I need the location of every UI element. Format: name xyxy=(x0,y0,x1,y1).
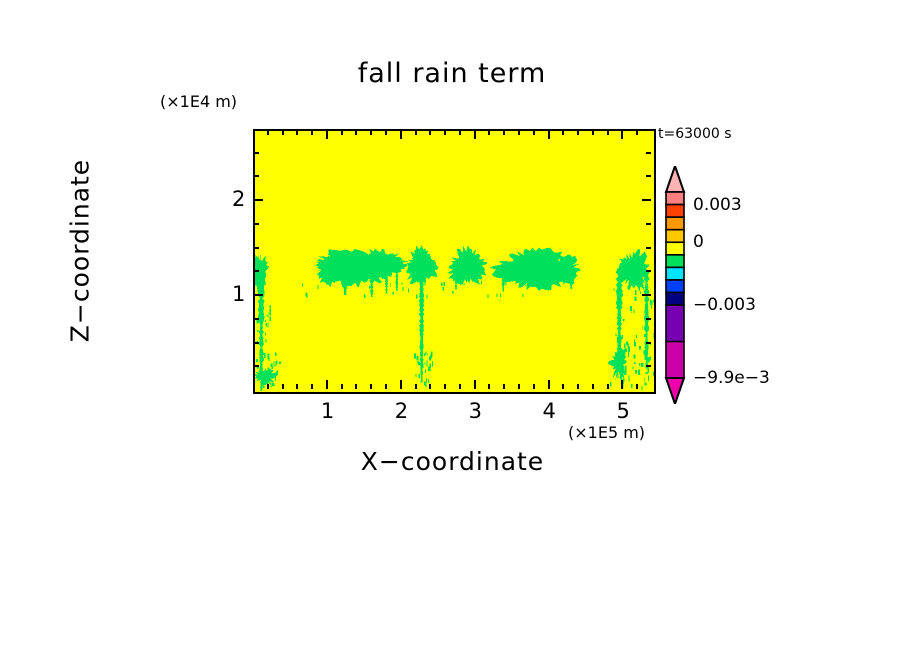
contour-region xyxy=(641,363,643,367)
contour-region xyxy=(269,313,271,316)
x-tick-mark xyxy=(429,130,431,135)
contour-region xyxy=(265,339,266,342)
contour-region xyxy=(306,293,307,297)
colorbar-band xyxy=(666,230,684,243)
x-tick-mark xyxy=(370,130,372,135)
contour-region xyxy=(261,370,262,373)
colorbar-tick-label: 0 xyxy=(693,232,704,252)
contour-region xyxy=(351,281,352,284)
y-tick-mark xyxy=(642,294,651,296)
x-tick-mark xyxy=(621,130,623,139)
contour-region xyxy=(408,289,409,293)
contour-region xyxy=(631,384,633,388)
contour-region xyxy=(269,358,270,361)
contour-region xyxy=(268,313,269,318)
contour-region xyxy=(261,386,262,392)
contour-region xyxy=(646,322,648,324)
contour-region xyxy=(268,368,269,373)
contour-region xyxy=(401,282,402,284)
x-tick-mark xyxy=(370,384,372,389)
y-tick-label: 2 xyxy=(232,187,245,211)
contour-region xyxy=(427,353,428,355)
contour-region xyxy=(640,291,641,294)
contour-region xyxy=(623,368,624,371)
contour-region xyxy=(425,370,426,373)
contour-region xyxy=(635,290,637,295)
contour-region xyxy=(390,283,391,287)
contour-region xyxy=(621,294,623,297)
colorbar-band xyxy=(666,255,684,268)
x-tick-mark xyxy=(444,384,446,389)
x-tick-mark xyxy=(577,384,579,389)
x-tick-label: 5 xyxy=(616,399,629,423)
contour-region xyxy=(644,377,645,382)
y-tick-mark xyxy=(254,152,259,154)
y-tick-mark xyxy=(254,199,263,201)
contour-region xyxy=(430,363,431,368)
contour-region xyxy=(523,294,524,297)
x-tick-mark xyxy=(474,380,476,389)
contour-region xyxy=(645,383,647,386)
contour-region xyxy=(500,293,501,297)
contour-region xyxy=(428,379,429,383)
y-tick-mark xyxy=(254,318,259,320)
x-tick-mark xyxy=(429,384,431,389)
contour-region xyxy=(260,340,261,344)
x-tick-mark xyxy=(326,380,328,389)
colorbar-band xyxy=(666,217,684,230)
plot-data-clip xyxy=(255,131,654,392)
contour-region xyxy=(426,378,427,381)
contour-region xyxy=(627,286,628,290)
y-tick-mark xyxy=(646,175,651,177)
x-tick-mark xyxy=(562,130,564,135)
contour-region xyxy=(264,372,266,376)
contour-region xyxy=(634,310,635,313)
x-tick-mark xyxy=(459,130,461,135)
x-axis-title: X−coordinate xyxy=(253,447,652,476)
x-tick-mark xyxy=(607,130,609,135)
x-tick-mark xyxy=(503,384,505,389)
contour-region xyxy=(275,353,277,357)
colorbar-top-cap xyxy=(666,166,684,192)
contour-region xyxy=(267,323,268,327)
y-tick-mark xyxy=(646,223,651,225)
contour-region xyxy=(416,374,417,377)
contour-region xyxy=(271,363,273,367)
contour-region xyxy=(648,314,649,317)
contour-region xyxy=(638,369,640,374)
x-tick-mark xyxy=(355,384,357,389)
x-axis-unit-label: (×1E5 m) xyxy=(568,423,645,442)
contour-region xyxy=(481,280,482,284)
contour-region xyxy=(634,342,636,346)
contour-region xyxy=(265,320,266,322)
contour-region xyxy=(270,382,271,387)
contour-region xyxy=(422,282,423,284)
contour-region xyxy=(426,295,427,299)
contour-region xyxy=(630,306,632,311)
contour-region xyxy=(260,352,261,354)
contour-region xyxy=(621,348,622,353)
contour-region xyxy=(634,362,635,364)
contour-region xyxy=(279,361,281,364)
contour-region xyxy=(276,360,277,364)
contour-region xyxy=(422,364,424,368)
contour-region xyxy=(616,333,617,336)
x-tick-mark xyxy=(282,384,284,389)
contour-region xyxy=(267,315,268,317)
x-tick-mark xyxy=(282,130,284,135)
contour-region xyxy=(369,285,370,288)
x-tick-label: 4 xyxy=(543,399,556,423)
contour-region xyxy=(307,294,308,296)
colorbar-tick-label: −9.9e−3 xyxy=(693,368,770,388)
y-tick-mark xyxy=(254,365,259,367)
contour-region xyxy=(419,374,420,378)
contour-region xyxy=(463,283,464,286)
contour-region xyxy=(261,353,262,355)
contour-region xyxy=(417,356,419,361)
contour-region xyxy=(256,359,258,362)
contour-region xyxy=(414,354,416,359)
contour-region xyxy=(257,377,258,380)
contour-region xyxy=(260,299,261,302)
x-tick-mark xyxy=(548,130,550,139)
colorbar-band xyxy=(666,305,684,341)
contour-region xyxy=(642,326,643,330)
x-tick-mark xyxy=(444,130,446,135)
contour-region xyxy=(265,323,266,325)
contour-region xyxy=(263,353,265,356)
contour-region xyxy=(618,290,619,294)
contour-region xyxy=(634,339,635,342)
y-tick-mark xyxy=(254,270,259,272)
x-tick-mark xyxy=(548,380,550,389)
contour-region xyxy=(623,319,625,321)
plot-area xyxy=(253,129,656,394)
colorbar-tick-label: 0.003 xyxy=(693,195,742,215)
contour-region xyxy=(639,363,640,366)
contour-region xyxy=(432,361,433,366)
colorbar-tick-label: −0.003 xyxy=(693,295,756,315)
contour-region xyxy=(650,300,651,305)
contour-region xyxy=(648,375,649,381)
colorbar-bottom-cap xyxy=(666,378,684,404)
x-tick-mark xyxy=(533,130,535,135)
contour-region xyxy=(428,367,429,371)
y-tick-mark xyxy=(646,318,651,320)
contour-region xyxy=(302,283,303,286)
contour-region xyxy=(626,342,628,345)
contour-region xyxy=(402,287,403,291)
x-tick-mark xyxy=(518,130,520,135)
contour-region xyxy=(654,371,655,375)
colorbar-band xyxy=(666,280,684,293)
contour-region xyxy=(426,351,427,354)
x-tick-mark xyxy=(341,384,343,389)
colorbar-swatches xyxy=(663,166,687,404)
contour-region xyxy=(270,374,271,380)
x-tick-mark xyxy=(503,130,505,135)
contour-region xyxy=(647,352,648,355)
contour-region xyxy=(260,296,261,299)
contour-region xyxy=(653,299,654,302)
contour-region xyxy=(265,333,266,335)
colorbar-band xyxy=(666,293,684,306)
contour-region xyxy=(505,282,506,286)
contour-region xyxy=(275,378,276,381)
y-tick-mark xyxy=(646,247,651,249)
contour-region xyxy=(635,370,637,374)
contour-region xyxy=(614,289,615,291)
x-tick-mark xyxy=(621,380,623,389)
contour-region xyxy=(257,330,259,332)
contour-region xyxy=(648,368,650,373)
contour-region xyxy=(317,285,318,289)
timestamp-annotation: t=63000 s xyxy=(658,126,732,142)
colorbar xyxy=(663,166,687,404)
contour-region xyxy=(496,294,497,297)
contour-region xyxy=(621,367,623,372)
colorbar-band xyxy=(666,242,684,255)
contour-region xyxy=(424,381,426,385)
y-axis-title: Z−coordinate xyxy=(66,111,95,391)
x-tick-mark xyxy=(296,384,298,389)
contour-region xyxy=(632,367,633,369)
contour-region xyxy=(263,386,265,388)
contour-region xyxy=(629,376,630,382)
colorbar-band xyxy=(666,205,684,218)
contour-field xyxy=(255,131,654,392)
contour-region xyxy=(270,306,271,309)
x-tick-mark xyxy=(341,130,343,135)
contour-region xyxy=(639,346,641,349)
x-tick-mark xyxy=(474,130,476,139)
contour-region xyxy=(633,355,635,359)
contour-region xyxy=(649,357,650,361)
x-tick-mark xyxy=(488,384,490,389)
contour-region xyxy=(636,335,637,338)
contour-region xyxy=(610,382,612,387)
x-tick-mark xyxy=(400,380,402,389)
x-tick-mark xyxy=(385,384,387,389)
contour-region xyxy=(267,375,269,381)
contour-region xyxy=(424,363,425,365)
contour-region xyxy=(622,335,623,339)
contour-region xyxy=(274,362,275,367)
x-tick-mark xyxy=(355,130,357,135)
contour-region xyxy=(426,361,427,367)
x-tick-mark xyxy=(518,384,520,389)
y-tick-mark xyxy=(254,247,259,249)
y-tick-mark xyxy=(254,294,263,296)
x-tick-mark xyxy=(400,130,402,139)
x-tick-mark xyxy=(415,130,417,135)
contour-region xyxy=(441,283,442,286)
contour-region xyxy=(364,294,366,298)
colorbar-band xyxy=(666,192,684,205)
contour-region xyxy=(618,360,620,362)
contour-region xyxy=(624,343,626,348)
y-tick-label: 1 xyxy=(232,282,245,306)
x-tick-label: 2 xyxy=(395,399,408,423)
x-tick-mark xyxy=(592,130,594,135)
x-tick-mark xyxy=(636,130,638,135)
x-tick-mark xyxy=(296,130,298,135)
y-tick-mark xyxy=(646,270,651,272)
contour-region xyxy=(272,383,274,387)
contour-region xyxy=(262,314,263,318)
contour-region xyxy=(641,386,642,391)
contour-region xyxy=(275,372,277,375)
contour-region xyxy=(259,331,260,333)
x-tick-label: 1 xyxy=(321,399,334,423)
y-tick-mark xyxy=(254,175,259,177)
contour-region xyxy=(624,371,626,376)
contour-region xyxy=(424,354,425,356)
contour-region xyxy=(645,354,647,360)
contour-region xyxy=(421,367,422,370)
y-tick-mark xyxy=(254,223,259,225)
contour-region xyxy=(262,371,263,375)
x-tick-mark xyxy=(385,130,387,135)
x-tick-mark xyxy=(326,130,328,139)
x-tick-mark xyxy=(592,384,594,389)
contour-region xyxy=(452,291,453,294)
y-axis-unit-label: (×1E4 m) xyxy=(160,92,237,111)
y-tick-mark xyxy=(646,152,651,154)
contour-region xyxy=(258,374,259,378)
contour-region xyxy=(526,284,527,286)
contour-region xyxy=(425,282,426,285)
contour-region xyxy=(443,287,445,290)
x-tick-mark xyxy=(607,384,609,389)
contour-region xyxy=(651,306,652,308)
contour-region xyxy=(623,363,624,366)
contour-region xyxy=(626,349,628,353)
contour-region xyxy=(270,317,271,321)
chart-title: fall rain term xyxy=(0,58,904,89)
contour-region xyxy=(393,292,394,295)
contour-region xyxy=(430,355,432,359)
contour-region xyxy=(618,374,619,379)
x-tick-mark xyxy=(311,384,313,389)
contour-region xyxy=(625,365,626,370)
contour-region xyxy=(643,350,645,355)
x-tick-mark xyxy=(459,384,461,389)
x-tick-mark xyxy=(533,384,535,389)
contour-region xyxy=(487,294,488,298)
contour-region xyxy=(261,382,263,385)
contour-region xyxy=(635,297,637,301)
x-tick-label: 3 xyxy=(469,399,482,423)
contour-region xyxy=(416,295,418,299)
contour-region xyxy=(648,357,650,363)
contour-region xyxy=(644,334,645,337)
figure-canvas: fall rain term (×1E4 m) (×1E5 m) t=63000… xyxy=(0,0,904,654)
contour-region xyxy=(628,347,630,352)
contour-region xyxy=(620,337,621,342)
y-tick-mark xyxy=(646,365,651,367)
y-tick-mark xyxy=(642,199,651,201)
x-tick-mark xyxy=(488,130,490,135)
x-tick-mark xyxy=(267,130,269,135)
x-tick-mark xyxy=(562,384,564,389)
contour-region xyxy=(420,282,421,285)
contour-region xyxy=(417,361,419,365)
x-tick-mark xyxy=(577,130,579,135)
contour-region xyxy=(444,282,445,286)
colorbar-band xyxy=(666,342,684,378)
x-tick-mark xyxy=(267,384,269,389)
colorbar-band xyxy=(666,267,684,280)
contour-region xyxy=(258,309,260,311)
contour-region xyxy=(262,358,264,362)
x-tick-mark xyxy=(311,130,313,135)
x-tick-mark xyxy=(415,384,417,389)
contour-region xyxy=(646,372,648,374)
contour-region xyxy=(653,333,654,338)
y-tick-mark xyxy=(254,342,259,344)
x-tick-mark xyxy=(636,384,638,389)
y-tick-mark xyxy=(646,342,651,344)
